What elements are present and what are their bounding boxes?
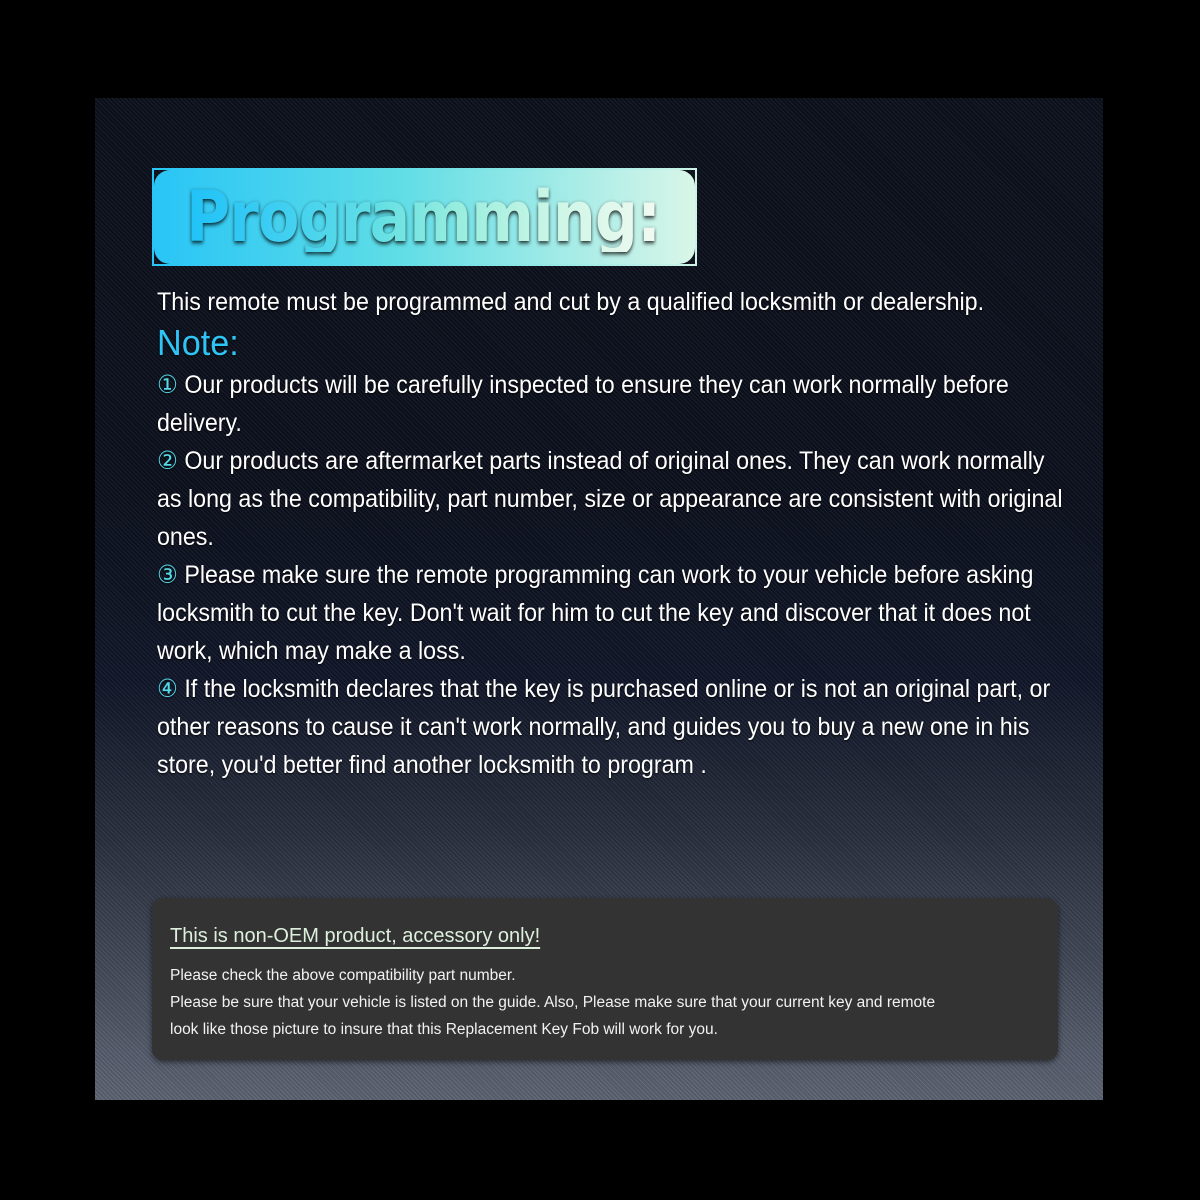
- note-item-2-line-1: Our products are aftermarket parts inste…: [184, 447, 894, 475]
- panel-content: Programming: This remote must be program…: [95, 98, 1103, 1100]
- disclaimer-line-2: Please be sure that your vehicle is list…: [170, 989, 1032, 1016]
- page-title: Programming:: [186, 182, 660, 252]
- note-heading: Note:: [157, 321, 1023, 365]
- page-root: Programming: This remote must be program…: [0, 0, 1200, 1200]
- disclaimer-heading: This is non-OEM product, accessory only!: [170, 924, 540, 948]
- disclaimer-line-3: look like those picture to insure that t…: [170, 1016, 1032, 1043]
- note-item-4-line-1: If the locksmith declares that the key i…: [184, 675, 888, 703]
- note-item-1: ① Our products will be carefully inspect…: [157, 366, 1065, 442]
- circled-number-1-icon: ①: [157, 370, 178, 399]
- note-item-1-line-1: Our products will be carefully inspected…: [184, 371, 936, 399]
- note-item-3-line-1: Please make sure the remote programming …: [184, 561, 887, 589]
- circled-number-2-icon: ②: [157, 446, 178, 475]
- disclaimer-card: This is non-OEM product, accessory only!…: [152, 898, 1058, 1060]
- lead-paragraph: This remote must be programmed and cut b…: [157, 290, 1005, 315]
- note-item-2: ② Our products are aftermarket parts ins…: [157, 442, 1065, 556]
- disclaimer-line-1: Please check the above compatibility par…: [170, 962, 1032, 989]
- note-item-3: ③ Please make sure the remote programmin…: [157, 556, 1065, 670]
- circled-number-3-icon: ③: [157, 560, 178, 589]
- info-panel: Programming: This remote must be program…: [95, 98, 1103, 1100]
- note-item-4-line-4: locksmith to program .: [478, 751, 707, 779]
- title-plate: Programming:: [152, 168, 697, 266]
- note-item-4: ④ If the locksmith declares that the key…: [157, 670, 1065, 784]
- circled-number-4-icon: ④: [157, 674, 178, 703]
- body-copy: This remote must be programmed and cut b…: [157, 290, 1069, 784]
